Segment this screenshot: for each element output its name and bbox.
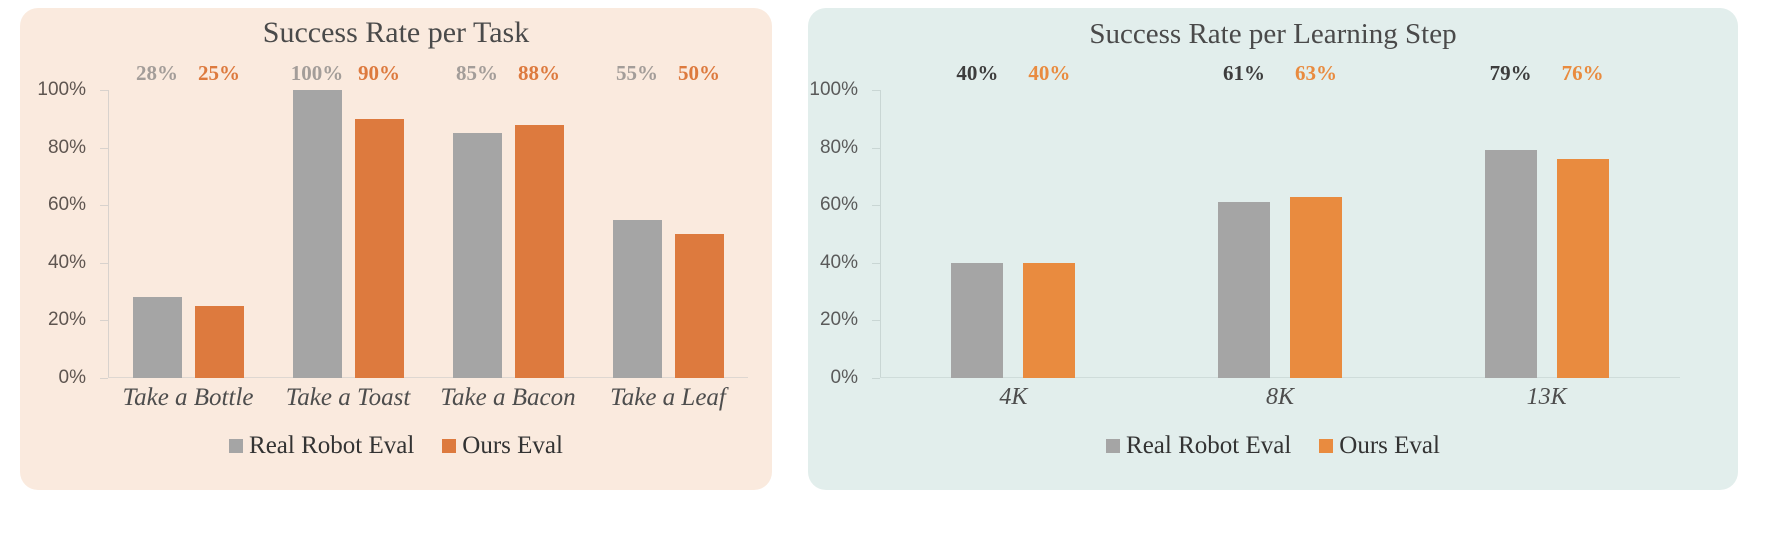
- bar-group-8k: 61% 63%: [1147, 90, 1414, 378]
- bar-value-label: 25%: [198, 61, 240, 86]
- legend-item-ours-eval[interactable]: Ours Eval: [1319, 432, 1440, 460]
- bar-group-take-a-bottle: 28% 25%: [108, 90, 268, 378]
- y-tick-20-right: 20%: [872, 320, 880, 321]
- bar-wrap-real-robot-eval: 40%: [941, 90, 1013, 378]
- bar-value-label: 88%: [518, 61, 560, 86]
- y-tick-label-20-left: 20%: [48, 309, 86, 331]
- bar-ours-eval[interactable]: [195, 306, 244, 378]
- bar-value-label: 40%: [1028, 61, 1070, 86]
- bar-value-label: 61%: [1223, 61, 1265, 86]
- bar-real-robot-eval[interactable]: [951, 263, 1003, 378]
- bar-wrap-real-robot-eval: 61%: [1208, 90, 1280, 378]
- chart-title-left: Success Rate per Task: [20, 16, 772, 50]
- legend-item-ours-eval[interactable]: Ours Eval: [442, 432, 563, 460]
- y-tick-100-right: 100%: [872, 90, 880, 91]
- x-axis-category-labels-left: Take a Bottle Take a Toast Take a Bacon …: [108, 384, 748, 412]
- legend-item-real-robot-eval[interactable]: Real Robot Eval: [1106, 432, 1291, 460]
- bar-value-label: 40%: [956, 61, 998, 86]
- bar-real-robot-eval[interactable]: [453, 133, 502, 378]
- bar-real-robot-eval[interactable]: [1485, 150, 1537, 378]
- y-tick-label-40-right: 40%: [820, 252, 858, 274]
- x-label-4k: 4K: [880, 384, 1147, 411]
- y-tick-label-60-left: 60%: [48, 194, 86, 216]
- bar-ours-eval[interactable]: [1023, 263, 1075, 378]
- legend-left: Real Robot Eval Ours Eval: [20, 432, 772, 460]
- bar-wrap-ours-eval: 76%: [1547, 90, 1619, 378]
- y-tick-40-left: 40%: [100, 263, 108, 264]
- y-tick-label-100-right: 100%: [809, 79, 858, 101]
- legend-swatch-icon: [1319, 439, 1333, 453]
- bar-value-label: 76%: [1562, 61, 1604, 86]
- y-tick-label-80-right: 80%: [820, 137, 858, 159]
- x-label-take-a-toast: Take a Toast: [268, 384, 428, 412]
- x-label-8k: 8K: [1147, 384, 1414, 411]
- bar-value-label: 100%: [291, 61, 344, 86]
- plot-area-left: 100% 80% 60% 40% 20% 0% 28%: [108, 90, 748, 378]
- legend-swatch-icon: [229, 439, 243, 453]
- legend-swatch-icon: [442, 439, 456, 453]
- bar-wrap-real-robot-eval: 79%: [1475, 90, 1547, 378]
- bar-real-robot-eval[interactable]: [133, 297, 182, 378]
- bar-ours-eval[interactable]: [675, 234, 724, 378]
- bar-group-13k: 79% 76%: [1413, 90, 1680, 378]
- legend-label: Ours Eval: [462, 432, 563, 460]
- bar-value-label: 55%: [616, 61, 658, 86]
- bar-groups-right: 40% 40% 61%: [880, 90, 1680, 378]
- y-tick-0-left: 0%: [100, 378, 108, 379]
- plot-area-right: 100% 80% 60% 40% 20% 0% 40%: [880, 90, 1680, 378]
- bar-group-4k: 40% 40%: [880, 90, 1147, 378]
- legend-item-real-robot-eval[interactable]: Real Robot Eval: [229, 432, 414, 460]
- chart-panel-success-rate-per-learning-step: Success Rate per Learning Step 100% 80% …: [808, 8, 1738, 490]
- bar-value-label: 79%: [1490, 61, 1532, 86]
- bar-wrap-real-robot-eval: 28%: [126, 90, 188, 378]
- bar-wrap-real-robot-eval: 55%: [606, 90, 668, 378]
- bar-real-robot-eval[interactable]: [1218, 202, 1270, 378]
- bar-group-take-a-bacon: 85% 88%: [428, 90, 588, 378]
- legend-label: Real Robot Eval: [1126, 432, 1291, 460]
- y-tick-label-100-left: 100%: [37, 79, 86, 101]
- y-tick-60-right: 60%: [872, 205, 880, 206]
- y-tick-100-left: 100%: [100, 90, 108, 91]
- bar-value-label: 90%: [358, 61, 400, 86]
- bar-wrap-ours-eval: 50%: [668, 90, 730, 378]
- y-tick-60-left: 60%: [100, 205, 108, 206]
- x-label-take-a-bacon: Take a Bacon: [428, 384, 588, 412]
- bar-value-label: 50%: [678, 61, 720, 86]
- legend-swatch-icon: [1106, 439, 1120, 453]
- legend-label: Real Robot Eval: [249, 432, 414, 460]
- legend-right: Real Robot Eval Ours Eval: [808, 432, 1738, 460]
- bar-groups-left: 28% 25% 100%: [108, 90, 748, 378]
- bar-wrap-real-robot-eval: 100%: [286, 90, 348, 378]
- legend-label: Ours Eval: [1339, 432, 1440, 460]
- bar-wrap-ours-eval: 25%: [188, 90, 250, 378]
- x-label-13k: 13K: [1413, 384, 1680, 411]
- bar-wrap-real-robot-eval: 85%: [446, 90, 508, 378]
- y-tick-label-60-right: 60%: [820, 194, 858, 216]
- bar-ours-eval[interactable]: [355, 119, 404, 378]
- y-tick-label-0-right: 0%: [831, 367, 858, 389]
- y-tick-label-20-right: 20%: [820, 309, 858, 331]
- y-tick-label-0-left: 0%: [59, 367, 86, 389]
- x-label-take-a-bottle: Take a Bottle: [108, 384, 268, 412]
- y-tick-80-left: 80%: [100, 148, 108, 149]
- y-tick-label-80-left: 80%: [48, 137, 86, 159]
- bar-wrap-ours-eval: 63%: [1280, 90, 1352, 378]
- bar-value-label: 85%: [456, 61, 498, 86]
- y-tick-0-right: 0%: [872, 378, 880, 379]
- chart-panel-success-rate-per-task: Success Rate per Task 100% 80% 60% 40% 2…: [20, 8, 772, 490]
- x-axis-category-labels-right: 4K 8K 13K: [880, 384, 1680, 411]
- bar-group-take-a-toast: 100% 90%: [268, 90, 428, 378]
- bar-ours-eval[interactable]: [1290, 197, 1342, 378]
- bar-ours-eval[interactable]: [1557, 159, 1609, 378]
- y-tick-40-right: 40%: [872, 263, 880, 264]
- y-tick-20-left: 20%: [100, 320, 108, 321]
- figure-root: Success Rate per Task 100% 80% 60% 40% 2…: [0, 0, 1774, 550]
- chart-title-right: Success Rate per Learning Step: [808, 18, 1738, 51]
- bar-real-robot-eval[interactable]: [613, 220, 662, 378]
- bar-wrap-ours-eval: 40%: [1013, 90, 1085, 378]
- bar-value-label: 63%: [1295, 61, 1337, 86]
- y-tick-label-40-left: 40%: [48, 252, 86, 274]
- bar-value-label: 28%: [136, 61, 178, 86]
- bar-wrap-ours-eval: 90%: [348, 90, 410, 378]
- bar-real-robot-eval[interactable]: [293, 90, 342, 378]
- bar-group-take-a-leaf: 55% 50%: [588, 90, 748, 378]
- y-tick-80-right: 80%: [872, 148, 880, 149]
- bar-wrap-ours-eval: 88%: [508, 90, 570, 378]
- x-label-take-a-leaf: Take a Leaf: [588, 384, 748, 412]
- bar-ours-eval[interactable]: [515, 125, 564, 378]
